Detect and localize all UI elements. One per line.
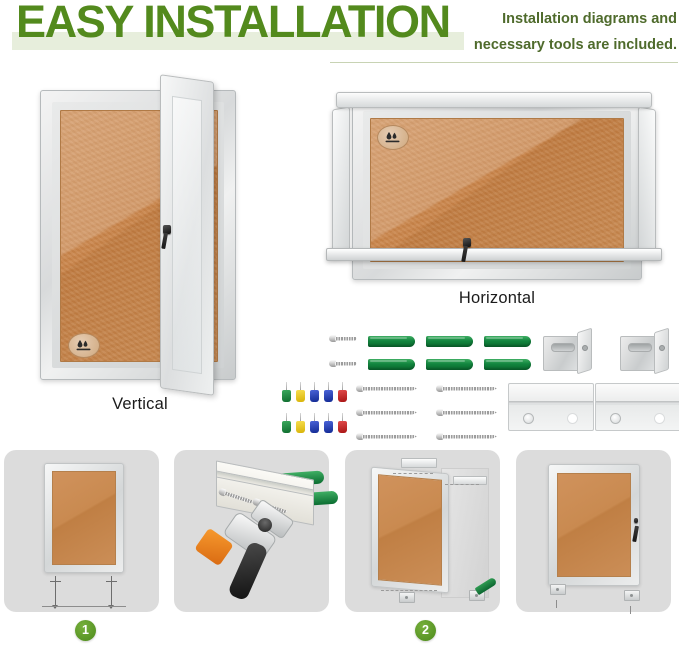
mounting-rail	[508, 383, 594, 431]
step3-foot-left	[399, 592, 415, 603]
push-pin-green	[282, 413, 291, 433]
bracket-wing	[577, 328, 592, 375]
long-screw	[436, 409, 497, 416]
step4-cabinet	[548, 464, 640, 586]
short-screw	[329, 335, 357, 342]
step1-cork	[52, 471, 116, 565]
vertical-door-lock-icon	[163, 225, 171, 234]
wall-anchor	[484, 336, 531, 347]
wall-anchor	[484, 359, 531, 370]
horizontal-door-left-rail	[332, 107, 350, 260]
step3-cabinet	[371, 467, 449, 594]
step-badge: 1	[75, 620, 96, 641]
push-pin-yellow	[296, 413, 305, 433]
long-screw	[356, 433, 417, 440]
vertical-cabinet-door-glass	[172, 96, 202, 374]
header-divider	[330, 62, 678, 63]
step4-foot-left	[550, 584, 566, 595]
rail-hole	[610, 413, 621, 424]
step3-dash-top	[393, 473, 433, 474]
step4-cork	[557, 473, 631, 577]
step3-dash-bottom	[381, 590, 437, 591]
rail-hole	[523, 413, 534, 424]
push-pin-green	[282, 382, 291, 402]
screw-head	[329, 335, 336, 342]
wall-anchor	[368, 359, 415, 370]
vertical-cabinet-label: Vertical	[60, 395, 220, 414]
short-screw	[329, 360, 357, 367]
step-panel-4: 4	[516, 450, 671, 612]
wall-anchor	[368, 336, 415, 347]
horizontal-door-top-rail	[336, 92, 652, 108]
bracket-hole	[659, 345, 665, 351]
step3-cork	[378, 474, 442, 586]
step4-tick-right	[630, 606, 631, 614]
push-pin-blue	[324, 382, 333, 402]
horizontal-door-bottom-rail	[326, 248, 662, 261]
rail-edge	[596, 401, 679, 404]
push-pin-blue	[310, 413, 319, 433]
header-subtitle: Installation diagrams and necessary tool…	[455, 6, 677, 58]
step-number-2: 2	[348, 620, 503, 641]
push-pin-red	[338, 413, 347, 433]
step1-floor-line	[42, 606, 126, 607]
step1-cabinet	[44, 463, 124, 573]
step3-top-rail-callout	[401, 458, 437, 468]
wall-anchor	[426, 336, 473, 347]
bracket-wing	[654, 328, 669, 375]
push-pin-red	[338, 382, 347, 402]
step-number-1: 1	[8, 620, 163, 641]
header-banner: EASY INSTALLATION Installation diagrams …	[0, 0, 679, 72]
horizontal-door-right-rail	[638, 107, 656, 260]
horizontal-cabinet-label: Horizontal	[417, 289, 577, 308]
screw-shank	[335, 337, 357, 341]
hardware-kit	[280, 325, 679, 443]
horizontal-door-lock-icon	[463, 238, 471, 247]
long-screw	[356, 409, 417, 416]
installation-steps: 1 2 3	[0, 445, 679, 658]
mounting-rail	[595, 383, 679, 431]
step3-dash-side	[445, 484, 479, 485]
screw-head	[329, 360, 336, 367]
step-badge: 2	[415, 620, 436, 641]
rail-edge	[509, 401, 593, 404]
push-pin-yellow	[296, 382, 305, 402]
step4-lock-icon	[634, 518, 638, 523]
step-panel-2: 2	[174, 450, 329, 612]
bracket-slot	[628, 343, 652, 352]
page-title: EASY INSTALLATION	[16, 0, 450, 48]
screw-shank	[335, 362, 357, 366]
push-pin-blue	[310, 382, 319, 402]
long-screw	[436, 385, 497, 392]
step4-foot-right	[624, 590, 640, 601]
step2-drill-handle	[227, 540, 269, 601]
waterproof-badge	[68, 333, 100, 358]
rail-hole	[654, 413, 665, 424]
long-screw	[436, 433, 497, 440]
corner-bracket	[543, 330, 593, 372]
step4-tick-left	[556, 600, 557, 608]
push-pin-blue	[324, 413, 333, 433]
bracket-hole	[582, 345, 588, 351]
rail-hole	[567, 413, 578, 424]
step-panel-3: 3	[345, 450, 500, 612]
subtitle-line-1: Installation diagrams and	[455, 6, 677, 32]
wall-anchor	[426, 359, 473, 370]
bracket-slot	[551, 343, 575, 352]
long-screw	[356, 385, 417, 392]
subtitle-line-2: necessary tools are included.	[455, 32, 677, 58]
step-panel-1: 1	[4, 450, 159, 612]
corner-bracket	[620, 330, 670, 372]
